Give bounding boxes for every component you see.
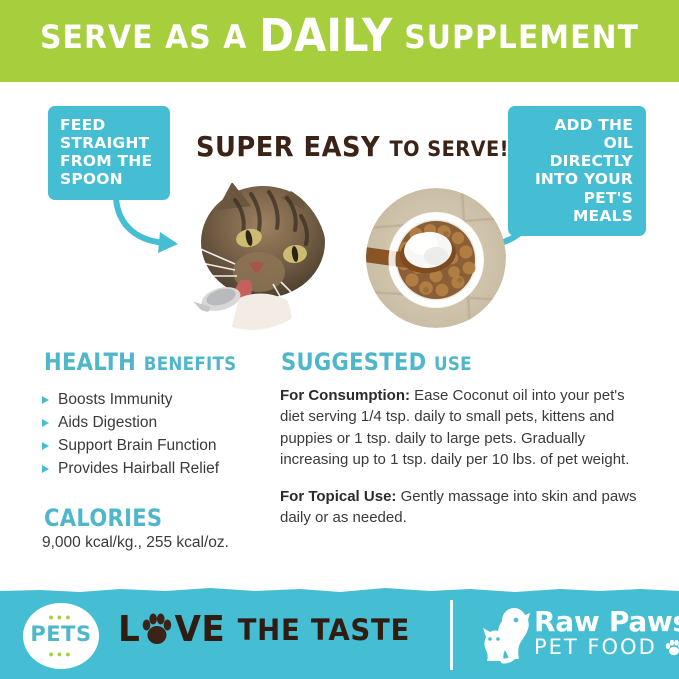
paragraph-label: For Topical Use: <box>280 488 396 505</box>
dog-and-cat-silhouette-icon <box>472 607 532 671</box>
paragraph-for-topical-use: For Topical Use: Gently massage into ski… <box>280 486 652 529</box>
top-banner-title: SERVE AS A DAILY SUPPLEMENT <box>24 13 655 58</box>
cat-photo-illustration <box>177 180 327 330</box>
benefit-label: Support Brain Function <box>58 437 217 455</box>
header-text-part1: SERVE AS A <box>40 18 247 56</box>
love-letter-l: L <box>118 609 140 650</box>
brand-tagline: PET FOOD <box>534 635 657 659</box>
infographic-page: SERVE AS A DAILY SUPPLEMENT FEED STRAIGH… <box>0 0 679 679</box>
heading-health-small: BENEFITS <box>144 353 237 375</box>
list-item: Boosts Immunity <box>42 388 282 411</box>
triangle-bullet-icon <box>42 442 49 450</box>
benefit-label: Aids Digestion <box>58 414 157 432</box>
triangle-bullet-icon <box>42 419 49 427</box>
photo-cat-licking-spoon <box>177 180 327 330</box>
headline-big: SUPER EASY <box>196 130 380 163</box>
heading-suggested-use: SUGGESTED USE <box>281 348 472 376</box>
triangle-bullet-icon <box>42 465 49 473</box>
heading-use-big: SUGGESTED <box>281 348 426 376</box>
the-taste-text: THE TASTE <box>238 613 411 647</box>
love-the-taste-lockup: L VE THE TASTE <box>118 609 410 650</box>
heading-health-big: HEALTH <box>44 348 136 376</box>
small-paw-icon <box>665 635 679 659</box>
brand-name: Raw Paws <box>534 605 679 638</box>
headline-super-easy: SUPER EASY TO SERVE! <box>196 130 509 163</box>
benefit-label: Boosts Immunity <box>58 391 173 409</box>
bowl-photo-illustration <box>366 188 506 328</box>
heading-calories: CALORIES <box>44 504 162 532</box>
paw-print-icon <box>141 613 173 647</box>
callout-add-oil-to-meals: ADD THE OIL DIRECTLY INTO YOUR PET'S MEA… <box>508 106 646 236</box>
paragraph-for-consumption: For Consumption: Ease Coconut oil into y… <box>280 385 652 471</box>
pets-badge: ●●● PETS ●●● <box>23 603 99 669</box>
callout-feed-from-spoon: FEED STRAIGHT FROM THE SPOON <box>48 106 170 200</box>
raw-paws-logo: Raw Paws® PET FOOD <box>472 605 672 671</box>
benefits-list: Boosts Immunity Aids Digestion Support B… <box>42 388 282 480</box>
list-item: Aids Digestion <box>42 411 282 434</box>
heading-use-small: USE <box>434 353 472 375</box>
heading-health-benefits: HEALTH BENEFITS <box>44 348 236 376</box>
callout-left-text: FEED STRAIGHT FROM THE SPOON <box>60 116 152 188</box>
benefit-label: Provides Hairball Relief <box>58 460 219 478</box>
headline-small: TO SERVE! <box>390 137 509 161</box>
list-item: Provides Hairball Relief <box>42 457 282 480</box>
photo-kibble-bowl-with-coconut-oil <box>366 188 506 328</box>
footer-divider <box>450 600 453 670</box>
brand-line-1: Raw Paws® <box>534 607 679 636</box>
header-text-emphasis: DAILY <box>259 9 392 62</box>
pets-badge-label: PETS <box>23 622 99 646</box>
paw-dots-bottom-icon: ●●● <box>23 650 99 659</box>
callout-right-text: ADD THE OIL DIRECTLY INTO YOUR PET'S MEA… <box>535 116 633 225</box>
triangle-bullet-icon <box>42 396 49 404</box>
paw-dots-top-icon: ●●● <box>23 613 99 622</box>
list-item: Support Brain Function <box>42 434 282 457</box>
header-text-part2: SUPPLEMENT <box>404 18 639 56</box>
suggested-use-body: For Consumption: Ease Coconut oil into y… <box>280 385 652 529</box>
paragraph-label: For Consumption: <box>280 387 410 404</box>
calories-value: 9,000 kcal/kg., 255 kcal/oz. <box>42 534 229 552</box>
torn-edge-decoration <box>0 586 679 596</box>
raw-paws-wordmark: Raw Paws® PET FOOD <box>534 607 679 659</box>
brand-line-2: PET FOOD <box>534 636 679 659</box>
top-banner: SERVE AS A DAILY SUPPLEMENT <box>0 0 679 82</box>
love-letters-ve: VE <box>174 609 225 650</box>
